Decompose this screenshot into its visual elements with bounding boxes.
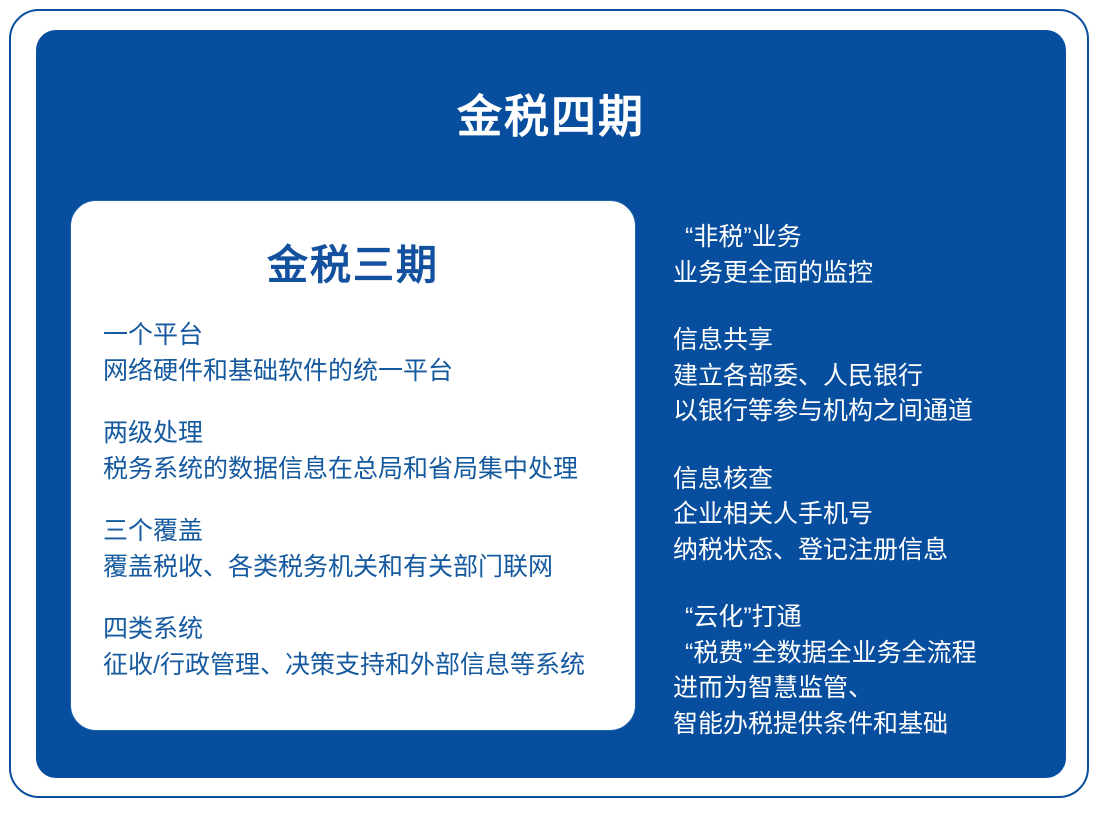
right-block-line: 建立各部委、人民银行 [673,359,1073,395]
right-block-line: 信息共享 [673,323,1073,359]
card-block-heading: 四类系统 [103,612,635,648]
card-block-detail: 覆盖税收、各类税务机关和有关部门联网 [103,550,635,586]
right-block-non-tax-business: “非税”业务 业务更全面的监控 [673,220,1073,291]
right-block-line: “云化”打通 [673,600,1073,636]
card-block-detail: 网络硬件和基础软件的统一平台 [103,354,635,390]
card-block-one-platform: 一个平台 网络硬件和基础软件的统一平台 [103,318,635,389]
card-title: 金税三期 [71,241,635,290]
right-block-line: 以银行等参与机构之间通道 [673,394,1073,430]
card-block-detail: 征收/行政管理、决策支持和外部信息等系统 [103,648,635,684]
right-block-line: “非税”业务 [673,220,1073,256]
card-block-heading: 两级处理 [103,416,635,452]
card-block-three-coverages: 三个覆盖 覆盖税收、各类税务机关和有关部门联网 [103,514,635,585]
card-block-four-systems: 四类系统 征收/行政管理、决策支持和外部信息等系统 [103,612,635,683]
right-block-line: “税费”全数据全业务全流程 [673,636,1073,672]
right-block-line: 智能办税提供条件和基础 [673,707,1073,743]
card-body: 一个平台 网络硬件和基础软件的统一平台 两级处理 税务系统的数据信息在总局和省局… [103,318,635,683]
card-block-heading: 三个覆盖 [103,514,635,550]
card-block-detail: 税务系统的数据信息在总局和省局集中处理 [103,452,635,488]
blue-panel: 金税四期 金税三期 一个平台 网络硬件和基础软件的统一平台 两级处理 税务系统的… [36,30,1066,778]
right-block-line: 企业相关人手机号 [673,497,1073,533]
card-block-heading: 一个平台 [103,318,635,354]
right-block-information-sharing: 信息共享 建立各部委、人民银行 以银行等参与机构之间通道 [673,323,1073,430]
right-block-line: 进而为智慧监管、 [673,671,1073,707]
right-block-information-verification: 信息核查 企业相关人手机号 纳税状态、登记注册信息 [673,462,1073,569]
right-feature-column: “非税”业务 业务更全面的监控 信息共享 建立各部委、人民银行 以银行等参与机构… [673,220,1073,742]
jinshui-phase3-card: 金税三期 一个平台 网络硬件和基础软件的统一平台 两级处理 税务系统的数据信息在… [70,200,636,731]
page-title: 金税四期 [36,90,1066,144]
right-block-cloud-integration: “云化”打通 “税费”全数据全业务全流程 进而为智慧监管、 智能办税提供条件和基… [673,600,1073,742]
right-block-line: 信息核查 [673,462,1073,498]
slide-canvas: 金税四期 金税三期 一个平台 网络硬件和基础软件的统一平台 两级处理 税务系统的… [0,0,1114,819]
card-block-two-level-processing: 两级处理 税务系统的数据信息在总局和省局集中处理 [103,416,635,487]
right-block-line: 纳税状态、登记注册信息 [673,533,1073,569]
right-block-line: 业务更全面的监控 [673,256,1073,292]
